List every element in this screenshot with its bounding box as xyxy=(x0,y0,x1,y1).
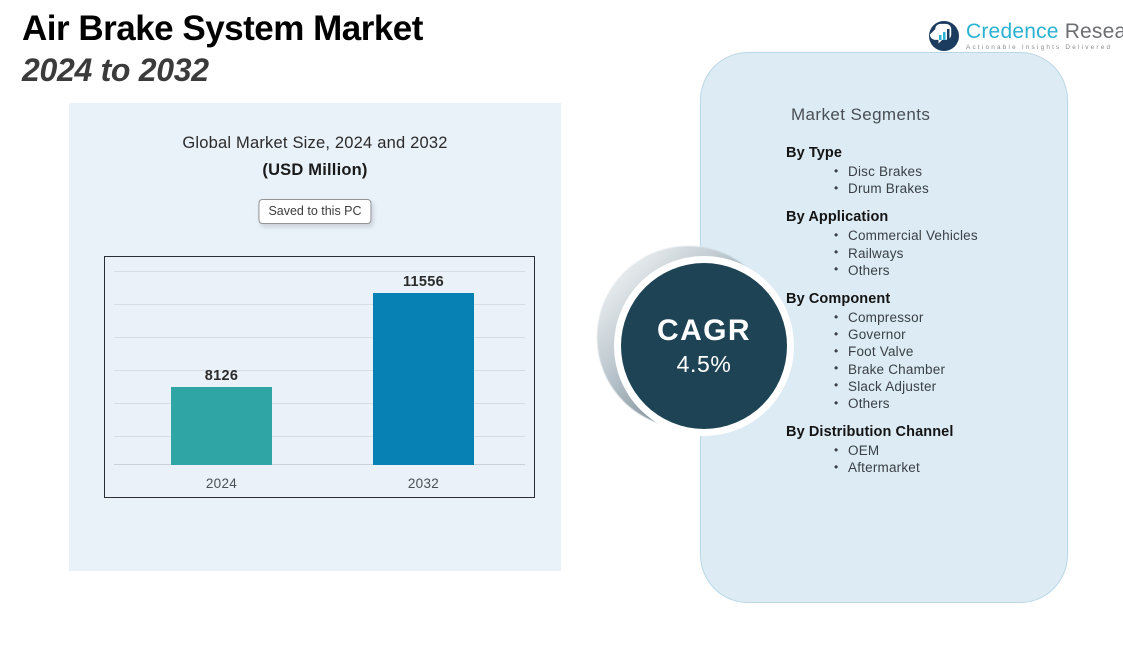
market-segments-heading: Market Segments xyxy=(791,105,930,125)
segment-item: Compressor xyxy=(834,309,1056,326)
title-main: Air Brake System Market xyxy=(22,8,662,50)
segment-item: Commercial Vehicles xyxy=(834,227,1056,244)
segment-group-by-type: By Type Disc Brakes Drum Brakes xyxy=(786,145,1056,197)
segment-group-by-application: By Application Commercial Vehicles Railw… xyxy=(786,209,1056,279)
segment-item: Others xyxy=(834,395,1056,412)
market-size-chart-panel: Global Market Size, 2024 and 2032 (USD M… xyxy=(69,103,561,571)
segment-group-title: By Type xyxy=(786,145,1056,161)
credence-research-logo: Credence Research Actionable Insights De… xyxy=(928,18,1114,54)
market-segments-list: By Type Disc Brakes Drum Brakes By Appli… xyxy=(786,145,1056,489)
segment-items: Compressor Governor Foot Valve Brake Cha… xyxy=(786,309,1056,412)
chart-title: Global Market Size, 2024 and 2032 xyxy=(69,134,561,153)
cagr-label: CAGR xyxy=(657,314,751,348)
segment-group-title: By Distribution Channel xyxy=(786,424,1056,440)
cagr-value: 4.5% xyxy=(677,349,732,379)
segment-item: Aftermarket xyxy=(834,459,1056,476)
segment-item: OEM xyxy=(834,442,1056,459)
bar-value-label-2024: 8126 xyxy=(171,368,272,384)
category-label-2032: 2032 xyxy=(373,476,474,491)
segment-item: Disc Brakes xyxy=(834,163,1056,180)
bar-value-label-2032: 11556 xyxy=(373,274,474,290)
page-title: Air Brake System Market 2024 to 2032 xyxy=(22,8,662,90)
segment-group-by-component: By Component Compressor Governor Foot Va… xyxy=(786,291,1056,412)
saved-to-this-pc-tooltip: Saved to this PC xyxy=(258,199,371,224)
segment-item: Others xyxy=(834,262,1056,279)
segment-item: Railways xyxy=(834,245,1056,262)
segment-group-title: By Component xyxy=(786,291,1056,307)
segment-items: OEM Aftermarket xyxy=(786,442,1056,476)
logo-tagline: Actionable Insights Delivered xyxy=(966,45,1123,51)
bar-2032 xyxy=(373,293,474,465)
category-label-2024: 2024 xyxy=(171,476,272,491)
cagr-badge: CAGR 4.5% xyxy=(597,246,797,444)
logo-name-research: Research xyxy=(1059,20,1123,43)
logo-name-credence: Credence xyxy=(966,20,1059,43)
bar-2024 xyxy=(171,387,272,465)
segment-item: Foot Valve xyxy=(834,343,1056,360)
bar-chart-bubble-icon xyxy=(928,20,960,52)
segment-item: Governor xyxy=(834,326,1056,343)
segment-item: Brake Chamber xyxy=(834,361,1056,378)
chart-subtitle-units: (USD Million) xyxy=(69,161,561,180)
gridline xyxy=(114,271,525,272)
segment-group-title: By Application xyxy=(786,209,1056,225)
bar-chart-plot-area: 8126 2024 11556 2032 xyxy=(104,256,535,498)
segment-items: Commercial Vehicles Railways Others xyxy=(786,227,1056,279)
logo-text: Credence Research Actionable Insights De… xyxy=(966,21,1123,51)
segment-item: Drum Brakes xyxy=(834,180,1056,197)
segment-group-by-distribution-channel: By Distribution Channel OEM Aftermarket xyxy=(786,424,1056,476)
title-subtitle-years: 2024 to 2032 xyxy=(22,50,662,90)
segment-item: Slack Adjuster xyxy=(834,378,1056,395)
logo-company-name: Credence Research xyxy=(966,21,1123,42)
segment-items: Disc Brakes Drum Brakes xyxy=(786,163,1056,197)
cagr-circle: CAGR 4.5% xyxy=(621,263,787,429)
